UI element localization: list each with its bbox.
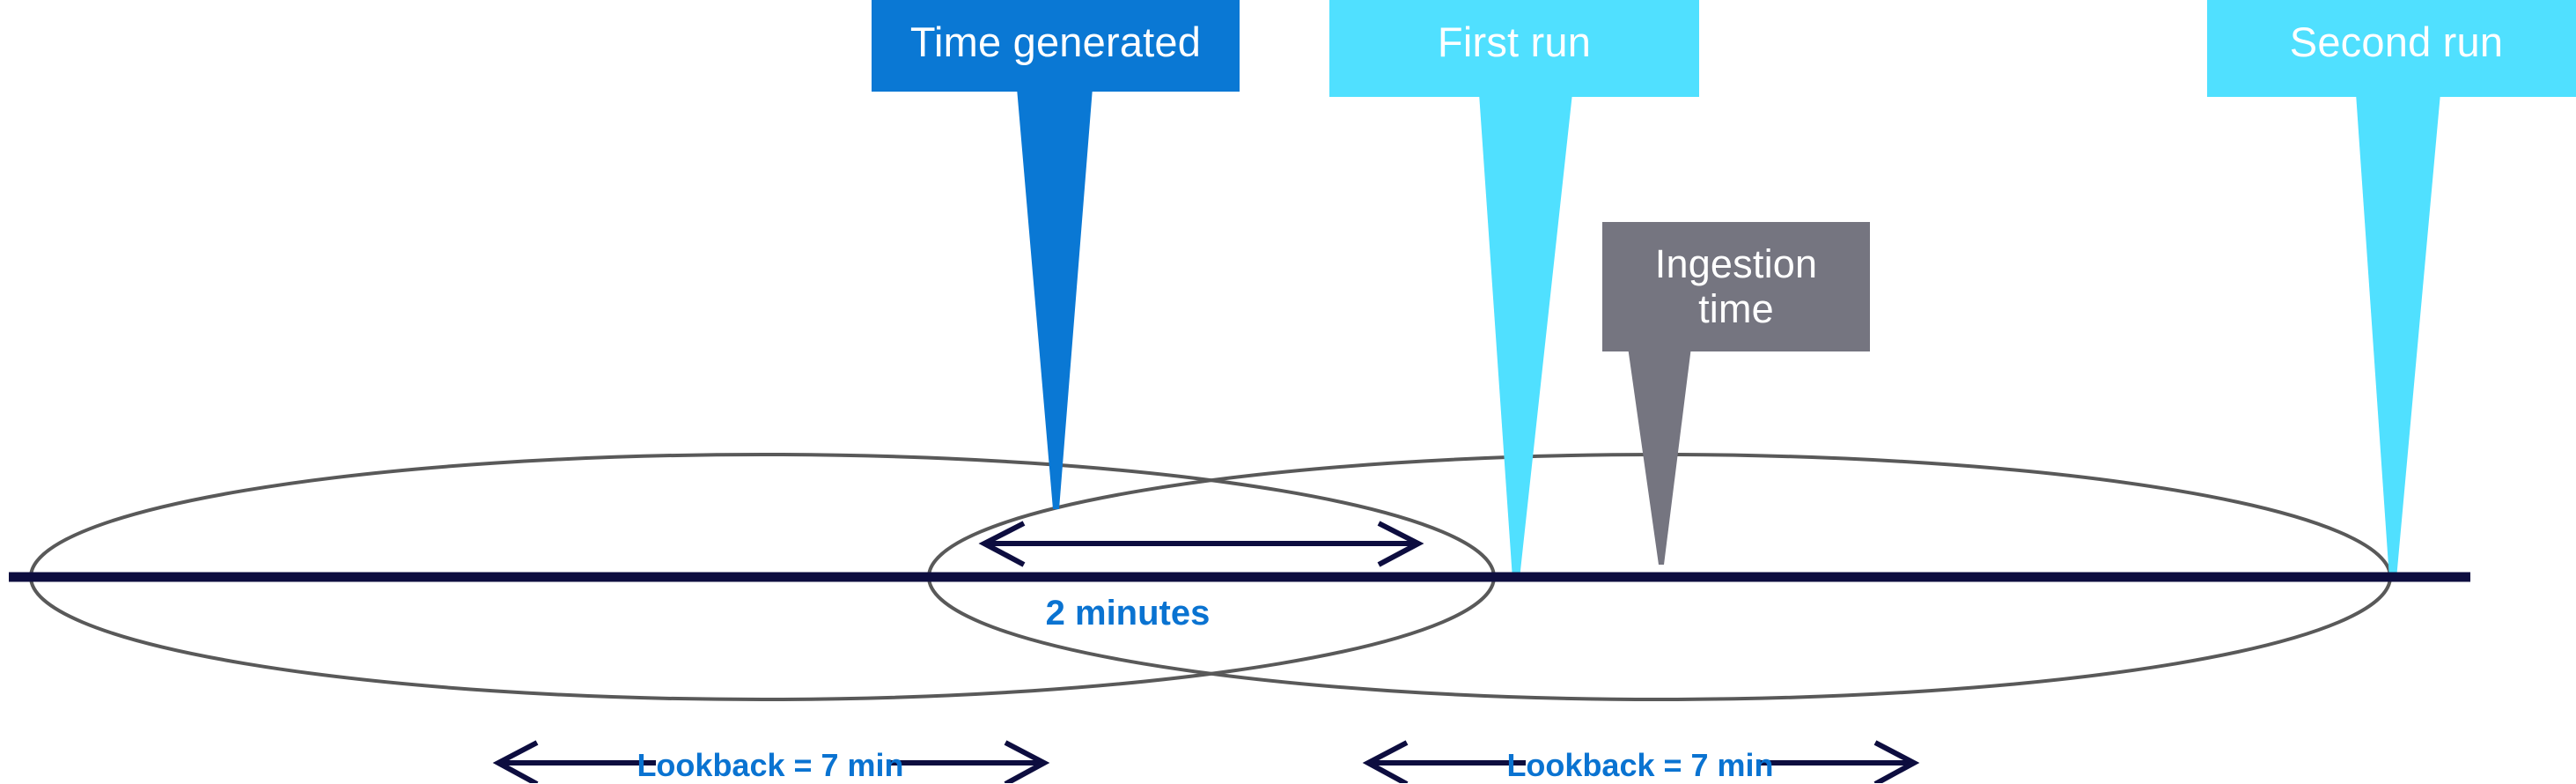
callout-time-generated[interactable]: Time generated — [872, 0, 1240, 92]
lookback-annotation-left: Lookback = 7 min — [637, 747, 903, 784]
time-generated-pointer — [1017, 88, 1093, 509]
second-run-pointer — [2356, 93, 2440, 579]
first-run-pointer — [1479, 93, 1572, 579]
callout-second-run[interactable]: Second run — [2207, 0, 2576, 97]
callout-ingestion-time-label-line1: Ingestion — [1655, 242, 1817, 286]
callout-ingestion-time-label-line2: time — [1698, 287, 1774, 331]
two-minutes-annotation: 2 minutes — [1046, 594, 1211, 633]
callout-second-run-label: Second run — [2290, 19, 2503, 66]
callout-first-run-label: First run — [1438, 19, 1591, 66]
two-minutes-arrow — [984, 523, 1418, 565]
diagram-canvas: Time generated First run Second run Inge… — [0, 0, 2576, 783]
callout-ingestion-time[interactable]: Ingestion time — [1602, 222, 1870, 351]
diagram-graphics — [0, 0, 2576, 783]
callout-first-run[interactable]: First run — [1329, 0, 1699, 97]
lookback-annotation-right: Lookback = 7 min — [1506, 747, 1773, 784]
callout-time-generated-label: Time generated — [910, 19, 1201, 66]
